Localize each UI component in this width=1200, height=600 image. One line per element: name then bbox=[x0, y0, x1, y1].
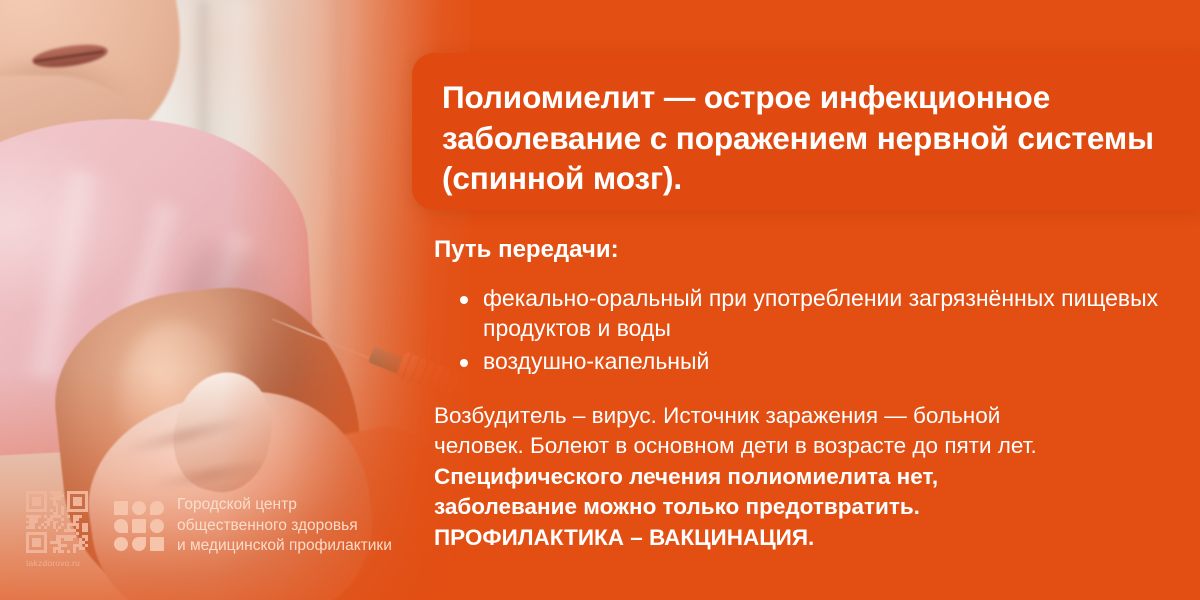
description-paragraph: Возбудитель – вирус. Источник заражения … bbox=[434, 401, 1174, 554]
content-area: Путь передачи: фекально-оральный при упо… bbox=[434, 236, 1174, 554]
list-item: фекально-оральный при употреблении загря… bbox=[434, 283, 1174, 344]
logo-shape-square bbox=[114, 501, 128, 515]
logo-shape-circle bbox=[114, 537, 128, 551]
logo-shape-leaf bbox=[114, 519, 128, 533]
paragraph-line-bold: ПРОФИЛАКТИКА – ВАКЦИНАЦИЯ. bbox=[434, 523, 1174, 554]
brand-text-line: и медицинской профилактики bbox=[177, 536, 392, 557]
qr-caption: takzdorovo.ru bbox=[26, 558, 92, 568]
title-card: Полиомиелит — острое инфекционное заболе… bbox=[412, 53, 1200, 210]
paragraph-line-regular: Возбудитель – вирус. Источник заражения … bbox=[434, 401, 1174, 432]
logo-shape-leaf bbox=[150, 501, 164, 515]
transmission-heading: Путь передачи: bbox=[434, 236, 1174, 265]
qr-code-icon[interactable] bbox=[26, 491, 88, 553]
logo-shape-circle bbox=[132, 501, 146, 515]
brand-text-line: Городской центр bbox=[177, 495, 392, 516]
logo-shape-leaf bbox=[132, 537, 146, 551]
logo-shape-square bbox=[132, 519, 146, 533]
brand-text-line: общественного здоровья bbox=[177, 516, 392, 537]
brand-text: Городской центр общественного здоровья и… bbox=[177, 495, 392, 557]
paragraph-line-bold: заболевание можно только предотвратить. bbox=[434, 492, 1174, 523]
logo-shape-square bbox=[150, 537, 164, 551]
page-title: Полиомиелит — острое инфекционное заболе… bbox=[442, 77, 1170, 199]
brand-logo: Городской центр общественного здоровья и… bbox=[114, 491, 392, 557]
paragraph-line-regular: человек. Болеют в основном дети в возрас… bbox=[434, 431, 1174, 462]
list-item: воздушно-капельный bbox=[434, 346, 1174, 377]
logo-shape-circle bbox=[150, 519, 164, 533]
footer: takzdorovo.ru Городской центр общественн… bbox=[26, 491, 392, 568]
transmission-list: фекально-оральный при употреблении загря… bbox=[434, 283, 1174, 377]
poster-root: Полиомиелит — острое инфекционное заболе… bbox=[0, 0, 1200, 600]
paragraph-line-bold: Специфического лечения полиомиелита нет, bbox=[434, 462, 1174, 493]
qr-block: takzdorovo.ru bbox=[26, 491, 92, 568]
brand-mark-icon bbox=[114, 501, 164, 551]
